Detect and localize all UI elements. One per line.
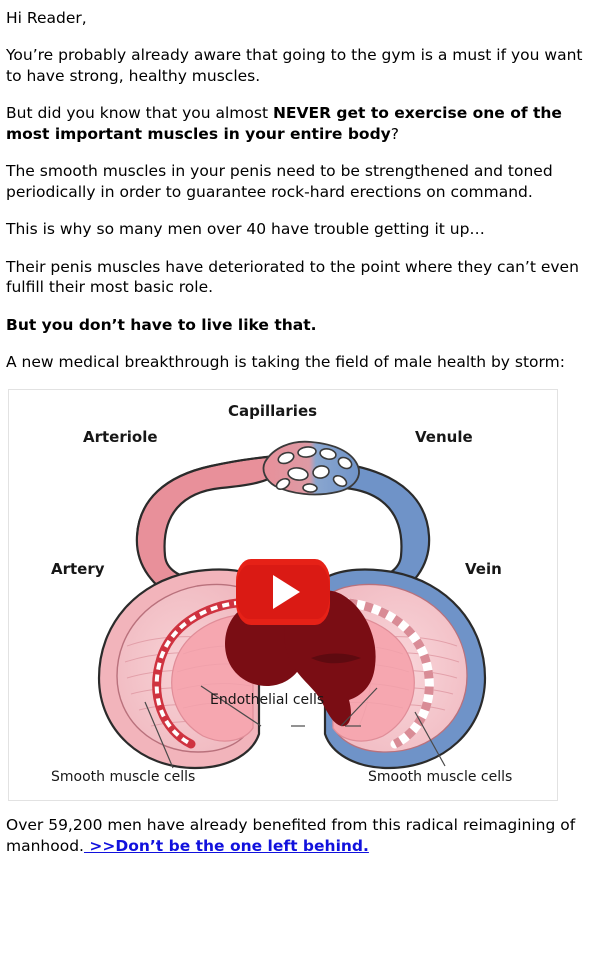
paragraph-smooth-muscles: The smooth muscles in your penis need to… (6, 161, 598, 202)
label-arteriole: Arteriole (83, 428, 158, 448)
paragraph-over-40: This is why so many men over 40 have tro… (6, 219, 598, 239)
video-thumbnail-figure[interactable]: Capillaries Arteriole Venule Artery Vein… (8, 389, 558, 801)
text-run: The smooth muscles in your penis need to… (6, 162, 553, 200)
label-venule: Venule (415, 428, 473, 448)
text-run: But did you know that you almost (6, 104, 273, 122)
paragraph-gym: You’re probably already aware that going… (6, 45, 598, 86)
paragraph-closing-cta: Over 59,200 men have already benefited f… (6, 815, 598, 856)
email-body: Hi Reader, You’re probably already aware… (0, 0, 604, 856)
label-endothelial-cells: Endothelial cells (210, 691, 324, 709)
paragraph-deteriorated: Their penis muscles have deteriorated to… (6, 257, 598, 298)
label-artery: Artery (51, 560, 105, 580)
paragraph-never-exercise: But did you know that you almost NEVER g… (6, 103, 598, 144)
play-triangle-icon (273, 575, 300, 609)
text-run-bold: But you don’t have to live like that. (6, 316, 317, 334)
label-capillaries: Capillaries (228, 402, 317, 422)
paragraph-breakthrough: A new medical breakthrough is taking the… (6, 352, 598, 372)
cta-link[interactable]: >>Don’t be the one left behind. (84, 837, 369, 855)
label-smooth-muscle-cells-left: Smooth muscle cells (51, 768, 195, 786)
youtube-play-button[interactable] (236, 559, 330, 625)
paragraph-dont-have-to-live: But you don’t have to live like that. (6, 315, 598, 335)
text-run: ? (391, 125, 399, 143)
vessel-diagram[interactable]: Capillaries Arteriole Venule Artery Vein… (15, 396, 551, 794)
text-run: You’re probably already aware that going… (6, 46, 582, 84)
text-run: A new medical breakthrough is taking the… (6, 353, 565, 371)
greeting: Hi Reader, (6, 8, 598, 28)
label-vein: Vein (465, 560, 502, 580)
label-smooth-muscle-cells-right: Smooth muscle cells (368, 768, 512, 786)
text-run: Their penis muscles have deteriorated to… (6, 258, 579, 296)
text-run: This is why so many men over 40 have tro… (6, 220, 485, 238)
